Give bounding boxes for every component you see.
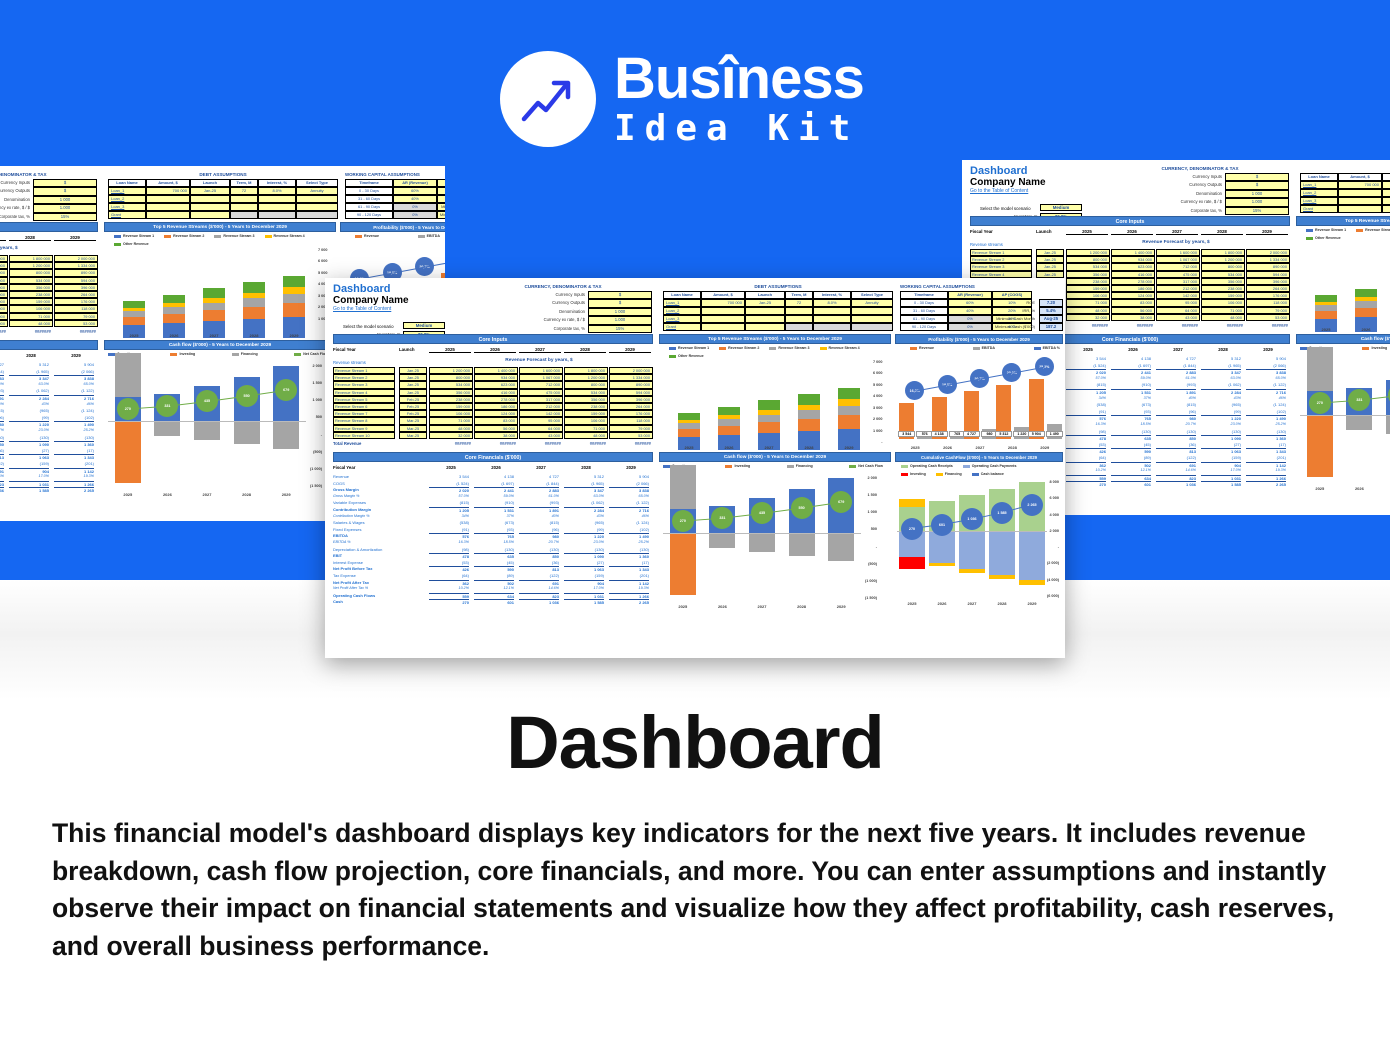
revenue-stream-value[interactable]: 2 000 000 bbox=[609, 367, 653, 374]
debt-cell[interactable]: Jan-25 bbox=[1382, 181, 1390, 189]
revenue-stream-value[interactable]: 2 000 000 bbox=[54, 255, 98, 262]
debt-cell[interactable] bbox=[785, 323, 813, 331]
y-tick: 7 000 bbox=[318, 248, 328, 252]
revenue-stream-launch[interactable]: Feb-25 bbox=[399, 403, 427, 410]
revenue-stream-name[interactable]: Revenue Stream 1 bbox=[970, 249, 1032, 256]
debt-cell[interactable] bbox=[1338, 197, 1382, 205]
revenue-stream-value[interactable]: 95 000 bbox=[1156, 299, 1200, 306]
cf-year: 2027 bbox=[519, 465, 563, 470]
debt-cell[interactable]: Annuity bbox=[851, 299, 893, 307]
revenue-stream-value[interactable]: 106 000 bbox=[1201, 299, 1245, 306]
revenue-stream-value[interactable]: 2 000 000 bbox=[1246, 249, 1290, 256]
revenue-stream-value[interactable]: 159 000 bbox=[9, 298, 53, 305]
debt-cell[interactable] bbox=[146, 211, 190, 219]
revenue-stream-value[interactable]: 1 600 000 bbox=[0, 255, 8, 262]
cf-row-value: 691 bbox=[0, 468, 4, 474]
revenue-stream-value[interactable]: 475 000 bbox=[0, 277, 8, 284]
revenue-stream-value[interactable]: 1 200 000 bbox=[429, 367, 473, 374]
debt-cell[interactable]: 700 000 bbox=[1338, 181, 1382, 189]
value-bubble: 1 585 bbox=[991, 502, 1013, 524]
debt-cell[interactable]: Loan_1 bbox=[663, 299, 701, 307]
revenue-stream-value[interactable]: 38 000 bbox=[1111, 314, 1155, 321]
revenue-stream-name[interactable]: Revenue Stream 3 bbox=[333, 381, 395, 388]
revenue-stream-value[interactable]: 212 000 bbox=[0, 291, 8, 298]
revenue-stream-launch[interactable]: Jan-25 bbox=[1036, 256, 1064, 263]
revenue-stream-value[interactable]: 712 000 bbox=[0, 269, 8, 276]
revenue-stream-launch[interactable]: Jan-25 bbox=[399, 374, 427, 381]
revenue-stream-value[interactable]: 1 200 000 bbox=[1066, 249, 1110, 256]
debt-cell[interactable] bbox=[851, 315, 893, 323]
scenario-select[interactable]: Medium bbox=[1040, 204, 1082, 211]
revenue-stream-value[interactable]: 106 000 bbox=[9, 305, 53, 312]
revenue-stream-value[interactable]: 212 000 bbox=[519, 403, 563, 410]
chart-cash-flow: 27033143555067920252026202720282029 bbox=[108, 362, 306, 497]
revenue-stream-value[interactable]: 118 000 bbox=[54, 305, 98, 312]
cf-row-value: 25.2% bbox=[54, 428, 94, 432]
revenue-stream-value[interactable]: 356 000 bbox=[429, 389, 473, 396]
cf-row-value: (36) bbox=[0, 448, 4, 453]
currency-row-value[interactable]: $ bbox=[588, 299, 652, 307]
debt-cell[interactable]: 700 000 bbox=[701, 299, 745, 307]
revenue-stream-value[interactable]: 238 000 bbox=[564, 403, 608, 410]
revenue-stream-value[interactable]: 43 000 bbox=[519, 432, 563, 439]
revenue-stream-value[interactable]: 278 000 bbox=[474, 396, 518, 403]
revenue-stream-value[interactable]: 356 000 bbox=[1201, 278, 1245, 285]
revenue-stream-launch[interactable]: Jan-25 bbox=[1036, 271, 1064, 278]
debt-cell[interactable] bbox=[813, 323, 851, 331]
debt-cell[interactable] bbox=[701, 315, 745, 323]
revenue-stream-value[interactable]: 1 800 000 bbox=[564, 367, 608, 374]
debt-cell[interactable]: Jan-25 bbox=[190, 187, 230, 195]
revenue-stream-value[interactable]: 475 000 bbox=[519, 389, 563, 396]
revenue-stream-value[interactable]: 890 000 bbox=[1246, 263, 1290, 270]
revenue-stream-launch[interactable]: Jan-25 bbox=[399, 367, 427, 374]
revenue-stream-value[interactable]: 48 000 bbox=[1201, 314, 1245, 321]
revenue-stream-value[interactable]: 1 067 000 bbox=[0, 262, 8, 269]
legend-swatch bbox=[232, 353, 239, 356]
revenue-stream-value[interactable]: 124 000 bbox=[1111, 292, 1155, 299]
revenue-stream-launch[interactable]: Mar-25 bbox=[399, 425, 427, 432]
revenue-stream-value[interactable]: 124 000 bbox=[474, 410, 518, 417]
cf-row-value: 18.5% bbox=[1111, 422, 1151, 426]
cf-row-value: 3 347 bbox=[9, 375, 49, 381]
table-of-content-link[interactable]: Go to the Table of Content bbox=[333, 306, 391, 312]
revenue-stream-value[interactable]: 64 000 bbox=[519, 425, 563, 432]
cf-row-value: 5 312 bbox=[564, 474, 604, 479]
x-tick: 2025 bbox=[669, 445, 709, 450]
currency-row-label: Denomination bbox=[475, 309, 585, 314]
revenue-stream-value[interactable]: 594 000 bbox=[1246, 271, 1290, 278]
revenue-stream-name[interactable]: Revenue Stream 6 bbox=[333, 403, 395, 410]
revenue-stream-value[interactable]: 79 000 bbox=[1246, 307, 1290, 314]
debt-cell[interactable] bbox=[190, 211, 230, 219]
company-name: Company Name bbox=[970, 177, 1046, 188]
currency-row-value[interactable]: 15% bbox=[1225, 207, 1289, 215]
scenario-select[interactable]: Medium bbox=[403, 322, 445, 329]
x-tick: 2025 bbox=[1306, 327, 1346, 332]
revenue-stream-value[interactable]: 416 000 bbox=[474, 389, 518, 396]
revenue-stream-value[interactable]: 800 000 bbox=[1201, 263, 1245, 270]
cf-row-value: 46% bbox=[609, 514, 649, 518]
revenue-stream-value[interactable]: 159 000 bbox=[429, 403, 473, 410]
revenue-stream-name[interactable]: Revenue Stream 7 bbox=[333, 410, 395, 417]
currency-row-value[interactable]: $ bbox=[1225, 181, 1289, 189]
legend-item: Revenue Stream 4 bbox=[820, 346, 860, 350]
debt-cell[interactable] bbox=[851, 323, 893, 331]
currency-row-value[interactable]: 1 000 bbox=[1225, 190, 1289, 198]
revenue-stream-value[interactable]: 800 000 bbox=[1066, 256, 1110, 263]
debt-cell[interactable] bbox=[785, 307, 813, 315]
revenue-stream-value[interactable]: 800 000 bbox=[9, 269, 53, 276]
revenue-stream-value[interactable]: 176 000 bbox=[1246, 292, 1290, 299]
debt-col-header: Launch bbox=[1382, 173, 1390, 181]
bar-segment bbox=[1355, 289, 1377, 297]
legend-item: Revenue Stream 2 bbox=[164, 234, 204, 238]
cf-row-value: 1 036 bbox=[519, 599, 559, 605]
debt-cell[interactable] bbox=[190, 203, 230, 211]
debt-col-header: Term, M bbox=[230, 179, 258, 187]
debt-cell[interactable]: Grant bbox=[1300, 205, 1338, 213]
debt-cell[interactable]: Loan_1 bbox=[1300, 181, 1338, 189]
cf-row-value: (99) bbox=[9, 415, 49, 420]
dashboard-screenshot[interactable]: DashboardCompany NameGo to the Table of … bbox=[325, 278, 1065, 658]
debt-cell[interactable] bbox=[745, 307, 785, 315]
revenue-stream-value[interactable]: 890 000 bbox=[54, 269, 98, 276]
revenue-stream-value[interactable]: 712 000 bbox=[519, 381, 563, 388]
cf-row-label: Operating Cash Flows bbox=[333, 593, 428, 598]
revenue-stream-value[interactable]: 159 000 bbox=[1066, 285, 1110, 292]
revenue-stream-launch[interactable]: Jan-25 bbox=[399, 381, 427, 388]
revenue-stream-value[interactable]: 1 200 000 bbox=[1201, 256, 1245, 263]
debt-cell[interactable] bbox=[785, 315, 813, 323]
cf-row-value: (27) bbox=[9, 448, 49, 453]
revenue-stream-name[interactable]: Revenue Stream 4 bbox=[970, 271, 1032, 278]
debt-cell[interactable] bbox=[296, 195, 338, 203]
debt-cell[interactable] bbox=[813, 315, 851, 323]
debt-cell[interactable]: Jan-25 bbox=[745, 299, 785, 307]
debt-cell[interactable]: 72 bbox=[785, 299, 813, 307]
revenue-stream-launch[interactable]: Mar-25 bbox=[399, 417, 427, 424]
revenue-stream-value[interactable]: 159 000 bbox=[1201, 292, 1245, 299]
currency-row-value[interactable]: 1.000 bbox=[588, 316, 652, 324]
revenue-stream-value[interactable]: 38 000 bbox=[474, 432, 518, 439]
revenue-stream-value[interactable]: 356 000 bbox=[9, 284, 53, 291]
cf-row-value: 1 205 bbox=[1066, 389, 1106, 395]
debt-cell[interactable] bbox=[813, 307, 851, 315]
revenue-stream-value[interactable]: 1 600 000 bbox=[1156, 249, 1200, 256]
revenue-stream-value[interactable]: 934 000 bbox=[474, 374, 518, 381]
revenue-stream-value[interactable]: 79 000 bbox=[54, 313, 98, 320]
revenue-stream-value[interactable]: 56 000 bbox=[1111, 307, 1155, 314]
revenue-stream-value[interactable]: 534 000 bbox=[429, 381, 473, 388]
revenue-stream-value[interactable]: 1 600 000 bbox=[519, 367, 563, 374]
legend-swatch bbox=[1306, 229, 1313, 232]
revenue-stream-launch[interactable]: Mar-25 bbox=[399, 432, 427, 439]
revenue-stream-value[interactable]: 64 000 bbox=[1156, 307, 1200, 314]
bar-segment bbox=[758, 400, 780, 409]
currency-row-value[interactable]: 15% bbox=[33, 213, 97, 221]
currency-row-value[interactable]: $ bbox=[33, 179, 97, 187]
debt-cell[interactable]: Loan_2 bbox=[108, 195, 146, 203]
cf-row-value: 362 bbox=[1066, 462, 1106, 468]
revenue-stream-value[interactable]: 475 000 bbox=[1156, 271, 1200, 278]
legend-label: Revenue bbox=[919, 346, 934, 350]
debt-cell[interactable]: Grant bbox=[663, 323, 701, 331]
revenue-stream-value[interactable]: 71 000 bbox=[9, 313, 53, 320]
revenue-stream-value[interactable]: 186 000 bbox=[1111, 285, 1155, 292]
debt-cell[interactable]: Loan_2 bbox=[663, 307, 701, 315]
revenue-stream-value[interactable]: 176 000 bbox=[54, 298, 98, 305]
debt-cell[interactable] bbox=[146, 203, 190, 211]
revenue-stream-value[interactable]: 396 000 bbox=[54, 284, 98, 291]
revenue-stream-value[interactable]: 83 000 bbox=[1111, 299, 1155, 306]
revenue-stream-value[interactable]: 48 000 bbox=[429, 425, 473, 432]
debt-cell[interactable]: Grant bbox=[108, 211, 146, 219]
debt-cell[interactable] bbox=[851, 307, 893, 315]
currency-row-value[interactable]: $ bbox=[1225, 173, 1289, 181]
debt-col-header: Amount, $ bbox=[146, 179, 190, 187]
debt-cell[interactable] bbox=[745, 323, 785, 331]
revenue-stream-value[interactable]: 1 334 000 bbox=[54, 262, 98, 269]
revenue-stream-value[interactable]: 83 000 bbox=[474, 417, 518, 424]
cf-row-value: 1 891 bbox=[519, 507, 559, 513]
revenue-stream-value[interactable]: 186 000 bbox=[474, 403, 518, 410]
revenue-stream-value[interactable]: 1 400 000 bbox=[474, 367, 518, 374]
bar-stack bbox=[758, 400, 780, 450]
debt-cell[interactable] bbox=[146, 195, 190, 203]
revenue-stream-value[interactable]: 48 000 bbox=[564, 432, 608, 439]
currency-heading: CURRENCY, DENOMINATOR & TAX bbox=[473, 284, 653, 289]
revenue-stream-value[interactable]: 712 000 bbox=[1156, 263, 1200, 270]
cf-row-value: 502 bbox=[474, 580, 514, 586]
revenue-stream-launch[interactable]: Feb-25 bbox=[399, 396, 427, 403]
revenue-stream-launch[interactable]: Jan-25 bbox=[1036, 249, 1064, 256]
debt-cell[interactable] bbox=[296, 203, 338, 211]
revenue-stream-value[interactable]: 1 400 000 bbox=[1111, 249, 1155, 256]
revenue-stream-value[interactable]: 238 000 bbox=[1066, 278, 1110, 285]
revenue-stream-value[interactable]: 278 000 bbox=[1111, 278, 1155, 285]
debt-cell[interactable] bbox=[701, 307, 745, 315]
revenue-stream-value[interactable]: 71 000 bbox=[564, 425, 608, 432]
currency-row-value[interactable]: 1.000 bbox=[33, 204, 97, 212]
revenue-stream-value[interactable]: 32 000 bbox=[429, 432, 473, 439]
currency-row-value[interactable]: 15% bbox=[588, 325, 652, 333]
revenue-stream-value[interactable]: 534 000 bbox=[1066, 263, 1110, 270]
currency-row-value[interactable]: $ bbox=[588, 291, 652, 299]
revenue-stream-value[interactable]: 118 000 bbox=[1246, 299, 1290, 306]
cf-row-value: (1 062) bbox=[1201, 382, 1241, 387]
cf-row-value: (102) bbox=[54, 415, 94, 420]
debt-cell[interactable]: Loan_3 bbox=[108, 203, 146, 211]
revenue-stream-value[interactable]: 238 000 bbox=[429, 396, 473, 403]
cf-row-value: 1 090 bbox=[564, 553, 604, 559]
table-of-content-link[interactable]: Go to the Table of Content bbox=[970, 188, 1028, 194]
revenue-stream-value[interactable]: 623 000 bbox=[474, 381, 518, 388]
revenue-stream-value[interactable]: 43 000 bbox=[0, 320, 8, 327]
cf-row-label: Fixed Expenses bbox=[333, 527, 428, 532]
revenue-stream-value[interactable]: 416 000 bbox=[1111, 271, 1155, 278]
debt-cell[interactable] bbox=[1338, 189, 1382, 197]
revenue-stream-value[interactable]: 142 000 bbox=[0, 298, 8, 305]
growth-arrow-icon bbox=[500, 51, 596, 147]
revenue-stream-value[interactable]: 176 000 bbox=[609, 410, 653, 417]
cf-row-value: 14.6% bbox=[0, 474, 4, 478]
revenue-stream-value[interactable]: 142 000 bbox=[519, 410, 563, 417]
legend-item: Net Cash Flow bbox=[294, 352, 328, 356]
revenue-stream-value[interactable]: 53 000 bbox=[1246, 314, 1290, 321]
debt-cell[interactable] bbox=[230, 211, 258, 219]
cf-row-value: 850 bbox=[519, 553, 559, 559]
revenue-stream-name[interactable]: Revenue Stream 1 bbox=[333, 367, 395, 374]
revenue-stream-value[interactable]: 1 067 000 bbox=[519, 374, 563, 381]
currency-row-value[interactable]: 1 000 bbox=[588, 308, 652, 316]
revenue-stream-name[interactable]: Revenue Stream 2 bbox=[970, 256, 1032, 263]
kpi-value: 187.2 bbox=[1039, 323, 1063, 331]
revenue-stream-value[interactable]: 56 000 bbox=[474, 425, 518, 432]
top5-band: Top 5 Revenue Streams ($'000) - 5 Years … bbox=[104, 222, 336, 232]
revenue-stream-value[interactable]: 71 000 bbox=[1201, 307, 1245, 314]
revenue-stream-name[interactable]: Revenue Stream 2 bbox=[333, 374, 395, 381]
debt-cell[interactable] bbox=[230, 203, 258, 211]
revenue-stream-value[interactable]: 43 000 bbox=[1156, 314, 1200, 321]
revenue-stream-launch[interactable]: Feb-25 bbox=[399, 410, 427, 417]
revenue-stream-value[interactable]: 64 000 bbox=[0, 313, 8, 320]
debt-cell[interactable]: 700 000 bbox=[146, 187, 190, 195]
chart-top-5-revenue-streams: 20252026202720282029 bbox=[669, 362, 869, 450]
revenue-stream-value[interactable]: 106 000 bbox=[564, 417, 608, 424]
cf-row-value: (130) bbox=[9, 435, 49, 440]
debt-cell[interactable] bbox=[190, 195, 230, 203]
revenue-stream-value[interactable]: 79 000 bbox=[609, 425, 653, 432]
debt-cell[interactable] bbox=[296, 211, 338, 219]
debt-cell[interactable]: Loan_3 bbox=[663, 315, 701, 323]
debt-cell[interactable] bbox=[1382, 189, 1390, 197]
revenue-stream-value[interactable]: 594 000 bbox=[54, 277, 98, 284]
revenue-stream-name[interactable]: Revenue Stream 8 bbox=[333, 417, 395, 424]
revenue-stream-value[interactable]: 396 000 bbox=[1246, 278, 1290, 285]
debt-cell[interactable] bbox=[701, 323, 745, 331]
debt-cell[interactable] bbox=[258, 203, 296, 211]
revenue-stream-name[interactable]: Revenue Stream 9 bbox=[333, 425, 395, 432]
debt-cell[interactable]: 72 bbox=[230, 187, 258, 195]
revenue-stream-value[interactable]: 800 000 bbox=[429, 374, 473, 381]
debt-cell[interactable] bbox=[1338, 205, 1382, 213]
revenue-stream-value[interactable]: 95 000 bbox=[0, 305, 8, 312]
revenue-stream-value[interactable]: 264 000 bbox=[54, 291, 98, 298]
revenue-stream-value[interactable]: 159 000 bbox=[564, 410, 608, 417]
debt-cell[interactable]: Loan_1 bbox=[108, 187, 146, 195]
revenue-stream-value[interactable]: 1 067 000 bbox=[1156, 256, 1200, 263]
revenue-stream-value[interactable]: 934 000 bbox=[1111, 256, 1155, 263]
revenue-stream-value[interactable]: 1 200 000 bbox=[564, 374, 608, 381]
legend-item: Operating Cash Receipts bbox=[901, 464, 953, 468]
currency-row-value[interactable]: 1.000 bbox=[1225, 198, 1289, 206]
revenue-stream-value[interactable]: 890 000 bbox=[609, 381, 653, 388]
debt-cell[interactable]: 8.0% bbox=[813, 299, 851, 307]
revenue-stream-value[interactable]: 106 000 bbox=[429, 410, 473, 417]
revenue-stream-value[interactable]: 623 000 bbox=[1111, 263, 1155, 270]
revenue-stream-name[interactable]: Revenue Stream 5 bbox=[333, 396, 395, 403]
revenue-stream-value[interactable]: 1 334 000 bbox=[1246, 256, 1290, 263]
revenue-stream-value[interactable]: 800 000 bbox=[564, 381, 608, 388]
debt-cell[interactable] bbox=[258, 211, 296, 219]
cf-year: 2029 bbox=[54, 353, 98, 358]
revenue-stream-value[interactable]: 317 000 bbox=[0, 284, 8, 291]
revenue-stream-value[interactable]: 106 000 bbox=[1066, 292, 1110, 299]
revenue-stream-value[interactable]: 1 334 000 bbox=[609, 374, 653, 381]
debt-cell[interactable] bbox=[1382, 205, 1390, 213]
cf-row-value: (1 697) bbox=[1111, 363, 1151, 368]
debt-cell[interactable] bbox=[230, 195, 258, 203]
revenue-stream-value[interactable]: 317 000 bbox=[1156, 278, 1200, 285]
debt-cell[interactable]: Loan_2 bbox=[1300, 189, 1338, 197]
revenue-stream-value[interactable]: 238 000 bbox=[9, 291, 53, 298]
revenue-stream-value[interactable]: 1 800 000 bbox=[9, 255, 53, 262]
revenue-stream-value[interactable]: 1 200 000 bbox=[9, 262, 53, 269]
revenue-stream-value[interactable]: 594 000 bbox=[609, 389, 653, 396]
y-tick: 4 000 bbox=[1047, 513, 1059, 517]
revenue-stream-value[interactable]: 71 000 bbox=[429, 417, 473, 424]
cf-row-value: 813 bbox=[1156, 448, 1196, 454]
revenue-stream-value[interactable]: 1 800 000 bbox=[1201, 249, 1245, 256]
cf-row-value: 65.0% bbox=[609, 494, 649, 498]
revenue-stream-value[interactable]: 118 000 bbox=[609, 417, 653, 424]
revenue-stream-value[interactable]: 95 000 bbox=[519, 417, 563, 424]
revenue-stream-value[interactable]: 534 000 bbox=[1201, 271, 1245, 278]
revenue-stream-value[interactable]: 317 000 bbox=[519, 396, 563, 403]
revenue-stream-launch[interactable]: Jan-25 bbox=[399, 389, 427, 396]
debt-cell[interactable]: 8.0% bbox=[258, 187, 296, 195]
debt-cell[interactable] bbox=[745, 315, 785, 323]
revenue-stream-name[interactable]: Revenue Stream 3 bbox=[970, 263, 1032, 270]
revenue-stream-launch[interactable]: Jan-25 bbox=[1036, 263, 1064, 270]
revenue-stream-value[interactable]: 53 000 bbox=[54, 320, 98, 327]
revenue-stream-value[interactable]: 356 000 bbox=[564, 396, 608, 403]
currency-row-value[interactable]: 1 000 bbox=[33, 196, 97, 204]
currency-row-value[interactable]: $ bbox=[33, 187, 97, 195]
revenue-stream-value[interactable]: 48 000 bbox=[1066, 307, 1110, 314]
revenue-stream-value[interactable]: 48 000 bbox=[9, 320, 53, 327]
revenue-stream-value[interactable]: 396 000 bbox=[609, 396, 653, 403]
revenue-stream-value[interactable]: 264 000 bbox=[609, 403, 653, 410]
revenue-stream-name[interactable]: Revenue Stream 10 bbox=[333, 432, 395, 439]
legend-item: Other Revenue bbox=[1306, 236, 1341, 240]
cf-row-value: 765 bbox=[1111, 415, 1151, 421]
revenue-stream-name[interactable]: Revenue Stream 4 bbox=[333, 389, 395, 396]
revenue-stream-value[interactable]: 53 000 bbox=[609, 432, 653, 439]
revenue-stream-value[interactable]: 212 000 bbox=[1156, 285, 1200, 292]
debt-cell[interactable]: Annuity bbox=[296, 187, 338, 195]
revenue-stream-value[interactable]: 32 000 bbox=[1066, 314, 1110, 321]
cashflow-band: Cash flow ($'000) - 5 Years to December … bbox=[659, 452, 891, 462]
revenue-stream-value[interactable]: 534 000 bbox=[9, 277, 53, 284]
debt-cell[interactable] bbox=[1382, 197, 1390, 205]
revenue-stream-value[interactable]: 534 000 bbox=[564, 389, 608, 396]
revenue-stream-value[interactable]: 71 000 bbox=[1066, 299, 1110, 306]
value-bubble: 270 bbox=[901, 518, 923, 540]
x-tick: 2025 bbox=[897, 601, 927, 606]
revenue-streams-label: Revenue streams bbox=[970, 242, 1003, 247]
logo-line-2: Idea Kit bbox=[614, 111, 864, 147]
debt-cell[interactable]: Loan_3 bbox=[1300, 197, 1338, 205]
revenue-stream-value[interactable]: 142 000 bbox=[1156, 292, 1200, 299]
bar-column bbox=[1355, 254, 1377, 332]
revenue-stream-value[interactable]: 238 000 bbox=[1201, 285, 1245, 292]
debt-cell[interactable] bbox=[258, 195, 296, 203]
revenue-stream-value[interactable]: 264 000 bbox=[1246, 285, 1290, 292]
revenue-stream-value[interactable]: 356 000 bbox=[1066, 271, 1110, 278]
cf-row-label: Variable Expenses bbox=[333, 500, 428, 505]
